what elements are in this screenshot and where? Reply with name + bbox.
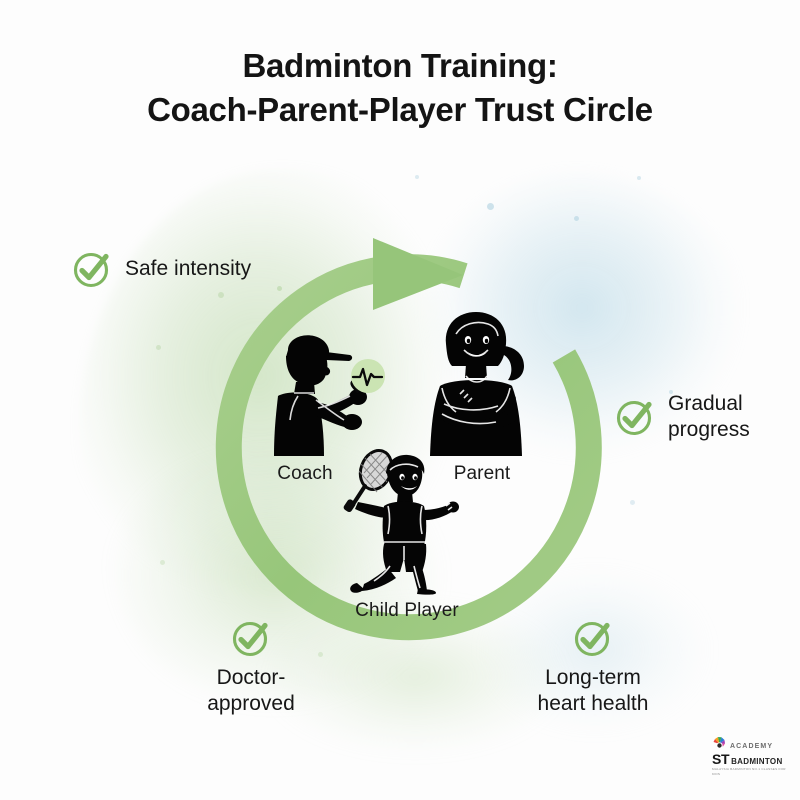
- check-circle-icon: [615, 397, 655, 437]
- logo-st-text: ST: [712, 752, 729, 766]
- role-label-coach: Coach: [245, 463, 365, 485]
- check-circle-icon: [72, 249, 112, 289]
- parent-label-text: Parent: [454, 463, 511, 484]
- speck: [318, 652, 323, 657]
- check-circle-icon: [231, 618, 271, 658]
- logo-tagline: MALAYSIA BADMINTON NO.1 CLASSES FOR KIDS: [712, 767, 792, 777]
- role-label-parent: Parent: [422, 463, 542, 485]
- infographic-canvas: Badminton Training: Coach-Parent-Player …: [0, 0, 800, 800]
- st-badminton-academy-logo[interactable]: ACADEMY ST BADMINTON MALAYSIA BADMINTON …: [712, 736, 792, 776]
- page-title: Badminton Training: Coach-Parent-Player …: [0, 44, 800, 132]
- arrow-head: [373, 238, 463, 310]
- logo-academy-text: ACADEMY: [730, 743, 773, 751]
- title-line-2: Coach-Parent-Player Trust Circle: [0, 88, 800, 132]
- benefit-doctor-approved[interactable]: Doctor- approved: [186, 618, 316, 717]
- coach-label-text: Coach: [277, 463, 332, 484]
- shuttlecock-logo-icon: [712, 736, 727, 751]
- heartbeat-icon: [348, 356, 388, 396]
- benefit-gradual-progress[interactable]: Gradual progress: [615, 391, 750, 443]
- benefit-label: Gradual progress: [668, 391, 750, 443]
- check-circle-icon: [573, 618, 613, 658]
- benefit-label: Long-term heart health: [538, 665, 649, 717]
- benefit-label: Safe intensity: [125, 256, 251, 282]
- logo-badminton-text: BADMINTON: [731, 757, 782, 767]
- parent-figure: [420, 310, 544, 458]
- benefit-long-term-heart-health[interactable]: Long-term heart health: [513, 618, 673, 717]
- speck: [630, 500, 635, 505]
- title-line-1: Badminton Training:: [0, 44, 800, 88]
- speck: [415, 175, 419, 179]
- speck: [160, 560, 165, 565]
- speck: [156, 345, 161, 350]
- benefit-label: Doctor- approved: [207, 665, 295, 717]
- child-player-label-text: Child Player: [355, 600, 459, 621]
- speck: [487, 203, 494, 210]
- role-label-child-player: Child Player: [337, 600, 477, 622]
- benefit-safe-intensity[interactable]: Safe intensity: [72, 249, 251, 289]
- speck: [637, 176, 641, 180]
